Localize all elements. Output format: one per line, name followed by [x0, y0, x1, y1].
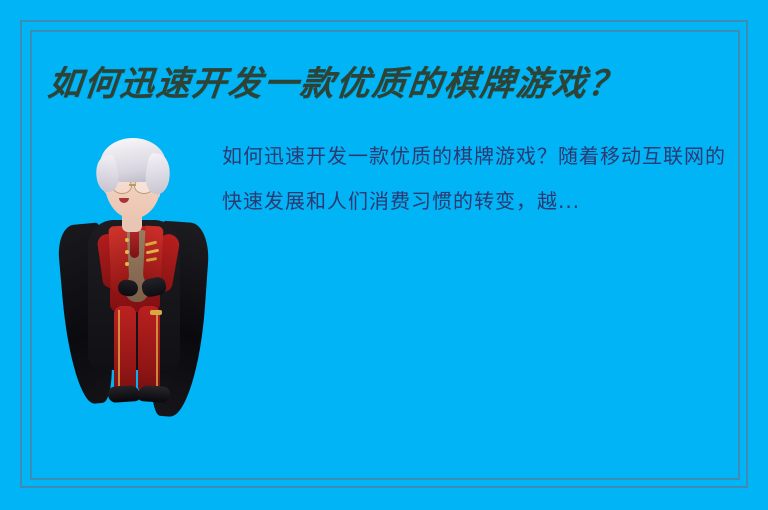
- article-excerpt: 如何迅速开发一款优质的棋牌游戏？随着移动互联网的快速发展和人们消费习惯的转变，越…: [222, 134, 732, 224]
- gold-button: [125, 238, 129, 242]
- page-title: 如何迅速开发一款优质的棋牌游戏？: [46, 62, 711, 106]
- gold-button: [125, 262, 129, 266]
- gold-cuff: [150, 310, 162, 315]
- shoe-right: [137, 385, 170, 403]
- shoe-left: [107, 385, 140, 403]
- article-cover-banner: 如何迅速开发一款优质的棋牌游戏？ 如何迅速开发一款优质的棋牌游戏？随着移动互联网…: [0, 0, 768, 510]
- trouser-stripe: [118, 310, 120, 386]
- character-illustration: [62, 130, 204, 420]
- necktie: [130, 228, 139, 258]
- gold-button: [125, 250, 129, 254]
- glasses-bridge: [129, 184, 136, 186]
- trouser-stripe: [156, 310, 158, 386]
